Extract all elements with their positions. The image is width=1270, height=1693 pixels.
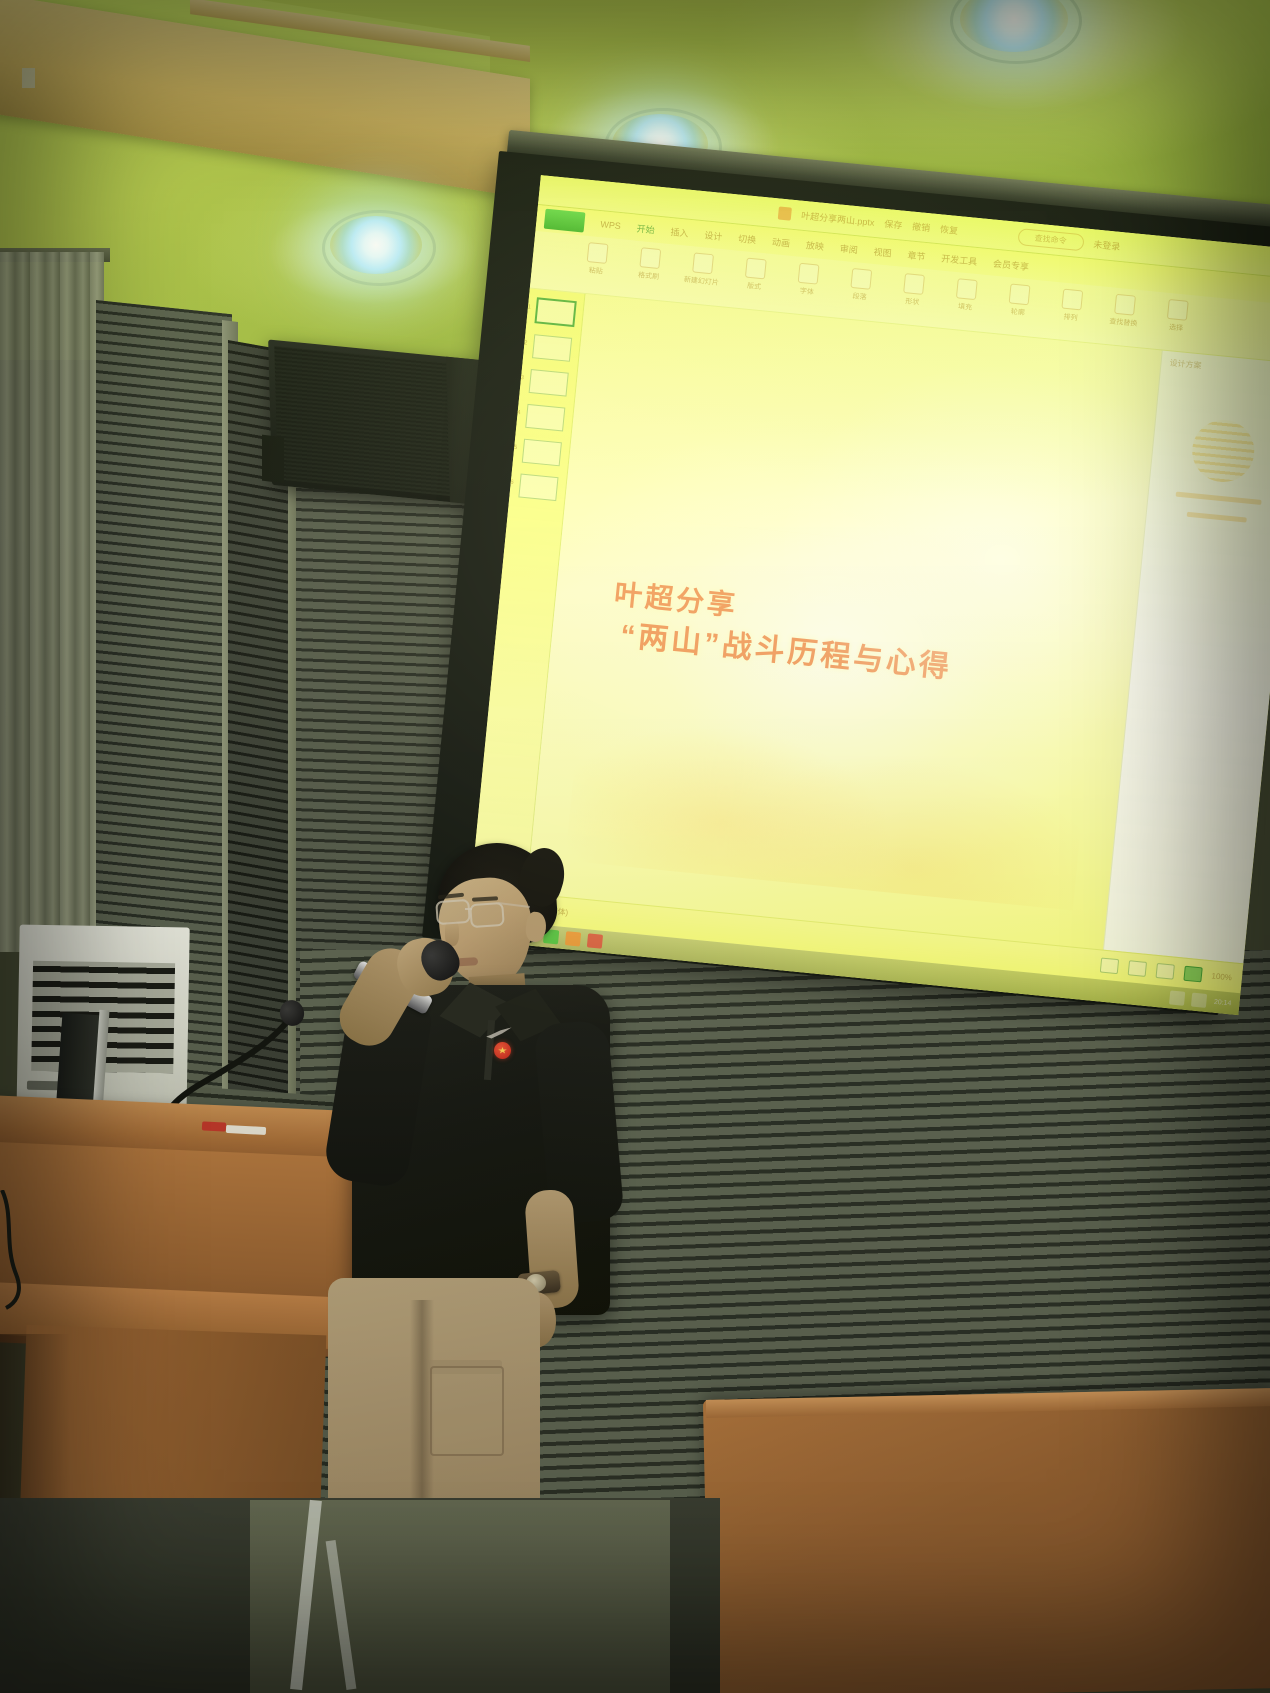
speaker-label-tag — [22, 68, 35, 88]
network-icon[interactable] — [1169, 990, 1185, 1005]
ribbon-item-outline[interactable]: 轮廓 — [997, 282, 1040, 319]
format-painter-icon — [639, 247, 661, 269]
slide-number: 4 — [517, 410, 521, 416]
titlebar-action-undo[interactable]: 撤销 — [912, 220, 931, 235]
ribbon-label-font: 字体 — [799, 286, 814, 297]
window-curtain — [0, 252, 104, 952]
tab-section[interactable]: 章节 — [907, 248, 926, 263]
view-reading-button[interactable] — [1155, 963, 1174, 980]
ribbon-item-format-painter[interactable]: 格式刷 — [628, 246, 671, 283]
arrange-icon — [1061, 289, 1083, 311]
ribbon-item-select[interactable]: 选择 — [1156, 298, 1199, 335]
ribbon-item-font[interactable]: 字体 — [786, 262, 829, 299]
ribbon-label-paragraph: 段落 — [852, 291, 867, 302]
ribbon-label-arrange: 排列 — [1063, 312, 1078, 323]
tab-home[interactable]: 开始 — [636, 221, 655, 236]
ribbon-item-find-replace[interactable]: 查找替换 — [1103, 293, 1146, 330]
start-slideshow-button[interactable] — [1183, 966, 1202, 983]
slide-thumbnail[interactable]: 1 — [534, 297, 576, 327]
podium-red-item — [202, 1121, 226, 1131]
speaker-grille — [274, 346, 451, 496]
ribbon-item-shape[interactable]: 形状 — [892, 272, 935, 309]
design-option-bar[interactable] — [1176, 492, 1262, 505]
tab-insert[interactable]: 插入 — [670, 225, 689, 240]
tab-developer[interactable]: 开发工具 — [941, 251, 978, 267]
zoom-level[interactable]: 100% — [1211, 971, 1232, 982]
slide-title-line-1: 叶超分享 — [613, 578, 739, 621]
slide-number: 2 — [524, 340, 528, 346]
party-emblem-pin-icon — [494, 1042, 511, 1059]
chat-app-icon[interactable] — [587, 933, 603, 948]
new-slide-icon — [692, 252, 714, 274]
tab-membership[interactable]: 会员专享 — [993, 256, 1030, 272]
tab-review[interactable]: 审阅 — [839, 241, 858, 256]
find-replace-icon — [1114, 294, 1136, 316]
ribbon-label-shape: 形状 — [905, 296, 920, 307]
ribbon-label-outline: 轮廓 — [1010, 307, 1025, 318]
ribbon-label-select: 选择 — [1169, 322, 1184, 333]
paste-icon — [587, 242, 609, 264]
fill-icon — [956, 278, 978, 300]
outline-icon — [1009, 283, 1031, 305]
font-icon — [798, 263, 820, 285]
slide-canvas[interactable]: 叶超分享 “两山”战斗历程与心得 — [527, 294, 1163, 950]
taskbar-clock[interactable]: 20:14 — [1214, 998, 1232, 1007]
slide-thumbnail[interactable]: 6 — [518, 473, 558, 501]
select-icon — [1167, 299, 1189, 321]
photo-scene: 叶超分享两山.pptx 保存 撤销 恢复 查找命令 未登录 WPS 开始 插入 … — [0, 0, 1270, 1693]
ribbon-item-layout[interactable]: 版式 — [734, 257, 777, 294]
account-status[interactable]: 未登录 — [1093, 237, 1121, 253]
slide-number: 6 — [510, 480, 514, 486]
titlebar-action-redo[interactable]: 恢复 — [939, 222, 958, 237]
ribbon-item-arrange[interactable]: 排列 — [1050, 288, 1093, 325]
floor-cable — [0, 1190, 70, 1300]
slide-thumbnail[interactable]: 3 — [528, 369, 568, 397]
tab-transition[interactable]: 切换 — [738, 231, 757, 246]
design-preview-thumbnail[interactable] — [1189, 417, 1257, 485]
foreground-bench — [703, 1388, 1270, 1693]
cable-path — [0, 1190, 80, 1310]
speaker-mount-bracket — [262, 435, 284, 484]
volume-icon[interactable] — [1191, 993, 1207, 1008]
view-sorter-button[interactable] — [1127, 960, 1146, 977]
slide-number: 5 — [513, 445, 517, 451]
tab-slideshow[interactable]: 放映 — [805, 238, 824, 253]
slide-number: 1 — [527, 304, 531, 310]
ribbon-label-layout: 版式 — [747, 281, 762, 292]
cargo-pocket — [430, 1366, 504, 1456]
design-option-bar[interactable] — [1187, 512, 1247, 523]
wps-doc-icon — [778, 206, 792, 220]
glasses-bridge — [465, 908, 472, 910]
ribbon-label-find-replace: 查找替换 — [1109, 316, 1138, 329]
tab-animation[interactable]: 动画 — [772, 234, 791, 249]
ribbon-label-fill: 填充 — [958, 301, 973, 312]
screen-surface: 叶超分享两山.pptx 保存 撤销 恢复 查找命令 未登录 WPS 开始 插入 … — [466, 175, 1270, 1015]
slide-number: 3 — [520, 375, 524, 381]
layout-icon — [745, 258, 767, 280]
ribbon-item-fill[interactable]: 填充 — [945, 277, 988, 314]
glasses-lens-right — [469, 902, 505, 928]
ribbon-item-paste[interactable]: 粘贴 — [575, 241, 618, 278]
tab-design[interactable]: 设计 — [704, 228, 723, 243]
slide-thumbnail[interactable]: 2 — [532, 334, 572, 362]
ribbon-label-paste: 粘贴 — [588, 265, 603, 276]
view-normal-button[interactable] — [1099, 957, 1118, 974]
tab-wps[interactable]: WPS — [600, 219, 621, 231]
ribbon-item-new-slide[interactable]: 新建幻灯片 — [681, 251, 724, 288]
paragraph-icon — [850, 268, 872, 290]
wps-logo-icon[interactable] — [544, 209, 586, 233]
slide-thumbnail[interactable]: 4 — [525, 404, 565, 432]
document-name: 叶超分享两山.pptx — [801, 209, 875, 229]
media-player-icon[interactable] — [565, 931, 581, 946]
ribbon-item-paragraph[interactable]: 段落 — [839, 267, 882, 304]
titlebar-action-save[interactable]: 保存 — [884, 217, 903, 232]
downlight-3 — [330, 216, 422, 274]
ribbon-label-new-slide: 新建幻灯片 — [683, 275, 719, 288]
shape-icon — [903, 273, 925, 295]
slide-background-artwork — [565, 513, 1107, 910]
tab-view[interactable]: 视图 — [873, 244, 892, 259]
slide-thumbnail[interactable]: 5 — [521, 439, 561, 467]
search-command-input[interactable]: 查找命令 — [1017, 228, 1084, 251]
ribbon-label-format-painter: 格式刷 — [638, 270, 660, 282]
